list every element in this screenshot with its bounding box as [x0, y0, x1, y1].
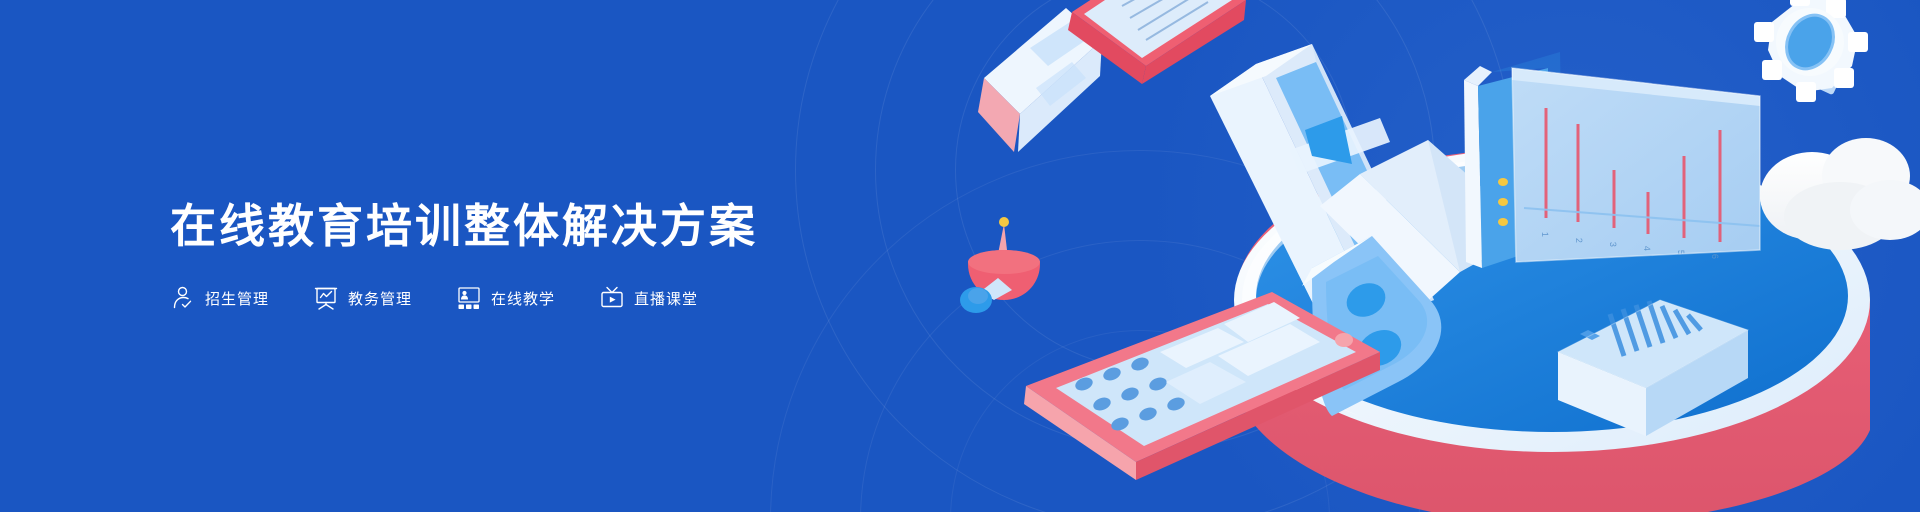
classroom-teaching-icon: [456, 285, 482, 311]
svg-text:1: 1: [1540, 232, 1550, 237]
page-title: 在线教育培训整体解决方案: [170, 201, 758, 252]
feature-list: 招生管理 教务管理: [170, 285, 758, 311]
open-notebook: [978, 0, 1246, 152]
monitor-chart-window: 1 2 3 4 5 6: [1464, 52, 1760, 268]
feature-item-online-teaching[interactable]: 在线教学: [456, 285, 555, 311]
svg-text:6: 6: [1710, 254, 1720, 259]
gear-3d: [1754, 0, 1868, 102]
feature-item-academic-affairs[interactable]: 教务管理: [313, 285, 412, 311]
education-hero-banner: 1 2 3 4 5 6: [0, 0, 1920, 512]
feature-label: 招生管理: [205, 288, 269, 309]
svg-text:2: 2: [1574, 238, 1584, 243]
tv-play-icon: [599, 285, 625, 311]
presentation-chart-icon: [313, 285, 339, 311]
feature-label: 教务管理: [348, 288, 412, 309]
hero-illustration: 1 2 3 4 5 6: [960, 0, 1920, 512]
banner-content: 在线教育培训整体解决方案 招生管理: [170, 0, 758, 512]
feature-label: 直播课堂: [634, 288, 698, 309]
feature-item-live-classroom[interactable]: 直播课堂: [599, 285, 698, 311]
svg-text:3: 3: [1608, 242, 1618, 247]
user-check-icon: [170, 285, 196, 311]
feature-label: 在线教学: [491, 288, 555, 309]
svg-text:4: 4: [1642, 246, 1652, 251]
feature-item-enrollment[interactable]: 招生管理: [170, 285, 269, 311]
spinning-top: [960, 217, 1040, 313]
